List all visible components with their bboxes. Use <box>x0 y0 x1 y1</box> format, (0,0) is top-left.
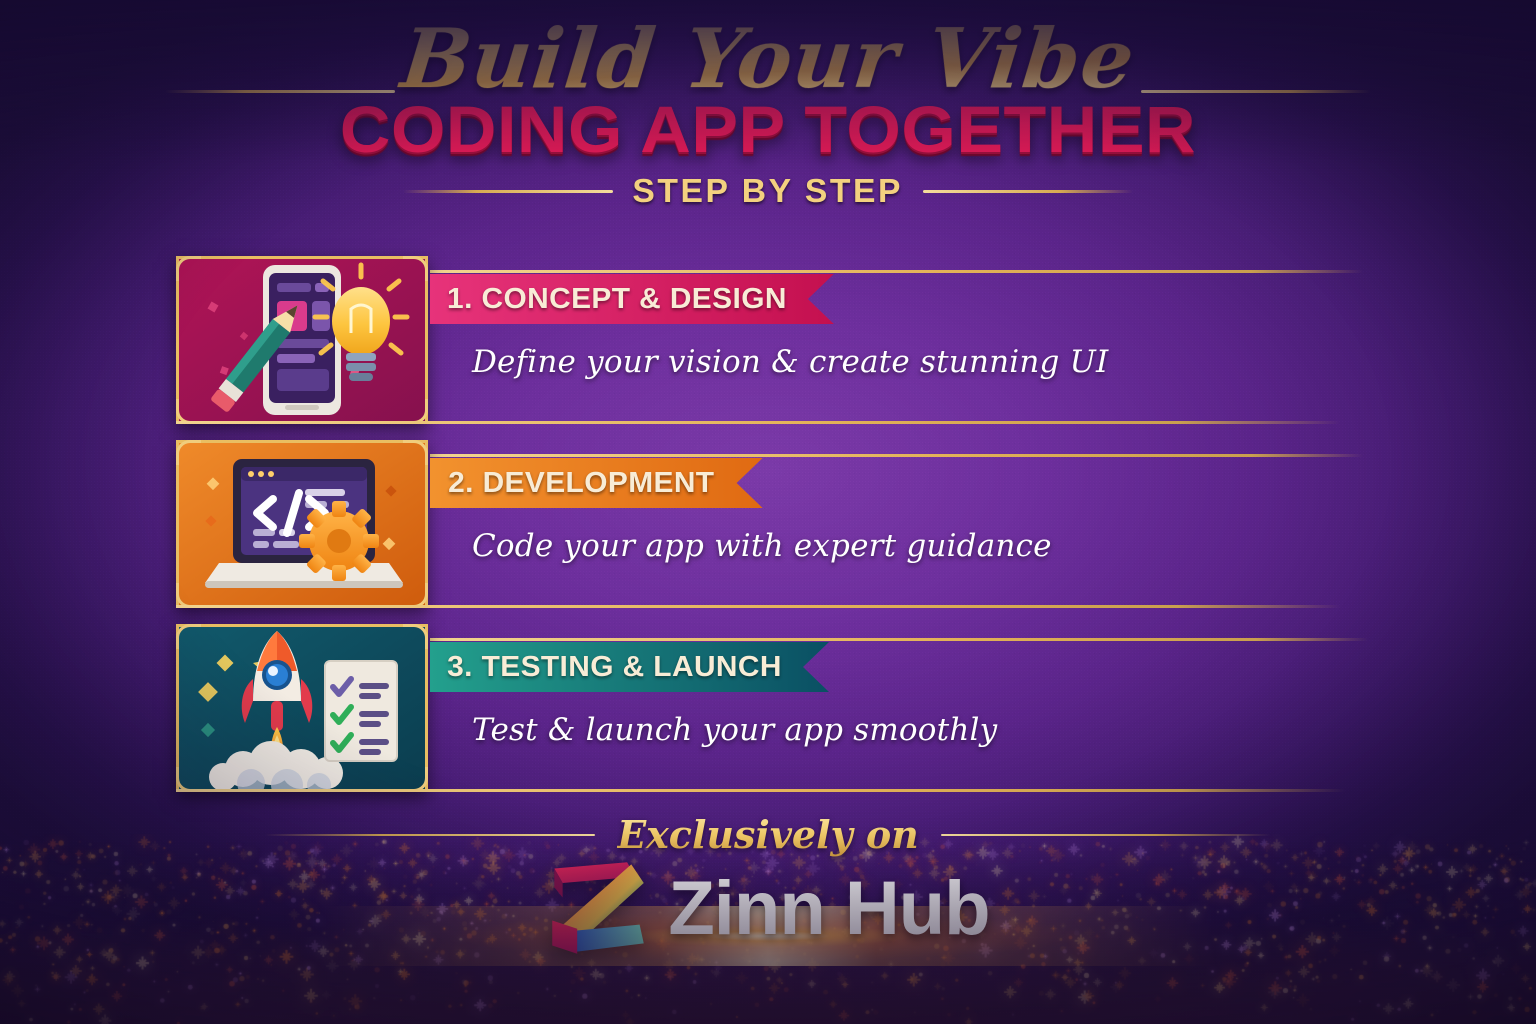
step-description: Test & launch your app smoothly <box>472 712 997 748</box>
step-label: 2. DEVELOPMENT <box>448 467 714 500</box>
rocket-checklist-icon <box>179 627 425 789</box>
step-rule-top <box>430 270 1363 273</box>
frame-corner-icon <box>403 624 428 649</box>
step-label: 3. TESTING & LAUNCH <box>447 651 782 684</box>
step-rule-bottom <box>176 605 1340 608</box>
subtitle-row: STEP BY STEP <box>0 172 1536 210</box>
brand-name: Zinn Hub <box>668 865 989 952</box>
brand-lockup[interactable]: Zinn Hub <box>0 856 1536 960</box>
step-icon-frame <box>176 624 428 792</box>
poster-canvas: Build Your Vibe CODING APP TOGETHER STEP… <box>0 0 1536 1024</box>
exclusively-rule-left <box>265 834 595 836</box>
step-ribbon[interactable]: 1. CONCEPT & DESIGN <box>430 274 834 324</box>
exclusively-rule-right <box>941 834 1271 836</box>
header: Build Your Vibe CODING APP TOGETHER STEP… <box>0 18 1536 210</box>
subtitle-rule-left <box>403 190 613 193</box>
step-rule-top <box>430 638 1368 641</box>
step-rule-bottom <box>176 421 1340 424</box>
step-ribbon[interactable]: 3. TESTING & LAUNCH <box>430 642 829 692</box>
frame-corner-icon <box>403 440 428 465</box>
step-description: Define your vision & create stunning UI <box>472 344 1108 380</box>
step-rule-top <box>430 454 1363 457</box>
footer: Exclusively on <box>0 784 1536 1024</box>
step-description: Code your app with expert guidance <box>472 528 1052 564</box>
exclusively-label: Exclusively on <box>617 812 919 857</box>
frame-corner-icon <box>176 256 201 281</box>
step-icon-frame <box>176 440 428 608</box>
step-row: 1. CONCEPT & DESIGN Define your vision &… <box>0 252 1536 422</box>
zinn-z-logo-icon <box>546 856 650 960</box>
page-title: CODING APP TOGETHER <box>0 96 1536 162</box>
step-row: 3. TESTING & LAUNCH Test & launch your a… <box>0 620 1536 790</box>
step-label: 1. CONCEPT & DESIGN <box>447 283 787 316</box>
frame-corner-icon <box>176 624 201 649</box>
laptop-code-gear-icon <box>179 443 425 605</box>
exclusively-row: Exclusively on <box>0 812 1536 857</box>
frame-corner-icon <box>403 256 428 281</box>
step-row: 2. DEVELOPMENT Code your app with expert… <box>0 436 1536 606</box>
frame-corner-icon <box>176 440 201 465</box>
phone-pencil-lightbulb-icon <box>179 259 425 421</box>
step-ribbon[interactable]: 2. DEVELOPMENT <box>430 458 763 508</box>
step-icon-frame <box>176 256 428 424</box>
script-title: Build Your Vibe <box>383 18 1152 100</box>
subtitle: STEP BY STEP <box>633 172 904 210</box>
steps-list: 1. CONCEPT & DESIGN Define your vision &… <box>0 252 1536 804</box>
subtitle-rule-right <box>923 190 1133 193</box>
